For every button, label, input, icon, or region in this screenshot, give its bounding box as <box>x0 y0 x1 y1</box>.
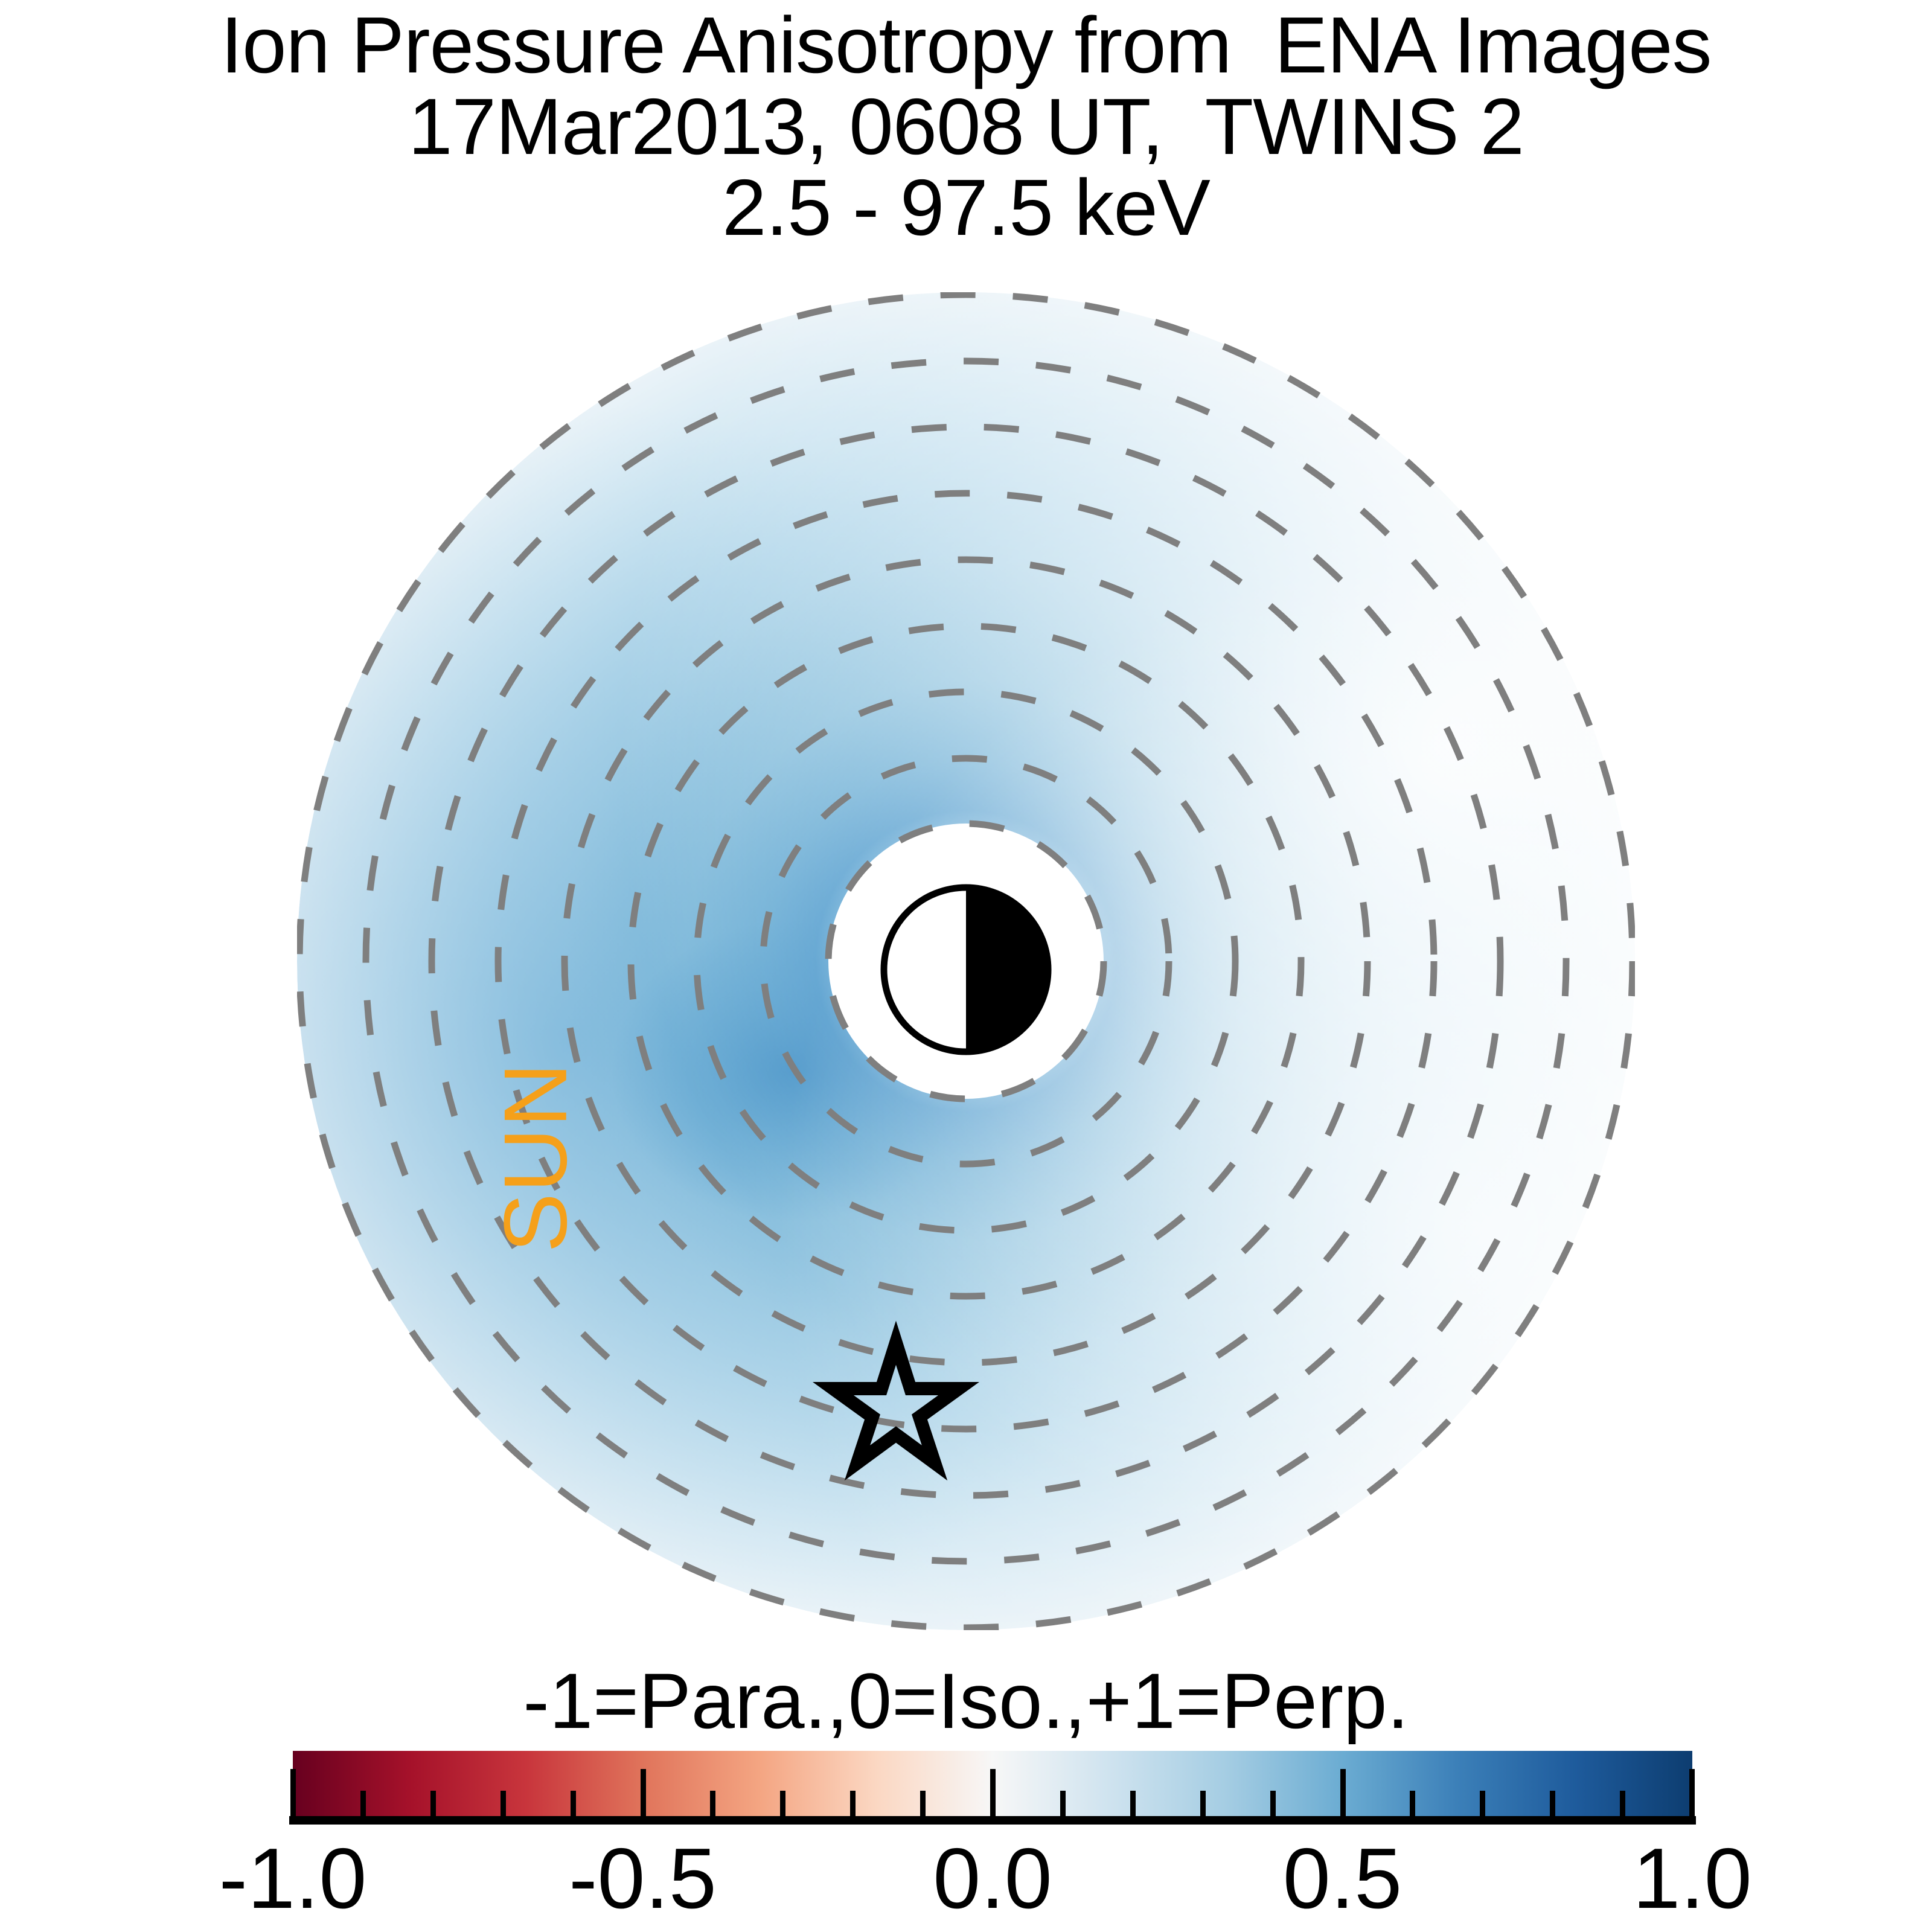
colorbar-major-tick <box>990 1769 996 1816</box>
colorbar-minor-tick <box>1550 1791 1555 1816</box>
colorbar-tick-label: -1.0 <box>219 1829 367 1928</box>
colorbar-tick-label: 0.0 <box>933 1829 1052 1928</box>
colorbar-tick-label: 1.0 <box>1633 1829 1751 1928</box>
colorbar-minor-tick <box>780 1791 785 1816</box>
figure-canvas: Ion Pressure Anisotropy from ENA Images … <box>0 0 1932 1932</box>
colorbar-minor-tick <box>571 1791 576 1816</box>
colorbar-minor-tick <box>1620 1791 1625 1816</box>
sun-direction-label: SUN <box>485 1062 587 1252</box>
colorbar-minor-tick <box>1130 1791 1136 1816</box>
anisotropy-polar-plot: SUN <box>297 292 1635 1630</box>
colorbar-axis-line <box>289 1816 1696 1825</box>
colorbar-major-tick <box>290 1769 296 1816</box>
earth-icon <box>884 888 1048 1052</box>
colorbar-minor-tick <box>1480 1791 1485 1816</box>
colorbar-minor-tick <box>1270 1791 1276 1816</box>
colorbar-major-tick <box>1340 1769 1346 1816</box>
colorbar-major-tick <box>641 1769 646 1816</box>
colorbar-tick-labels: -1.0-0.50.00.51.0 <box>293 1829 1692 1920</box>
title-line-3: 2.5 - 97.5 keV <box>0 167 1932 249</box>
title-line-1: Ion Pressure Anisotropy from ENA Images <box>0 5 1932 86</box>
title-line-2: 17Mar2013, 0608 UT, TWINS 2 <box>0 86 1932 168</box>
anisotropy-map <box>297 292 1635 1630</box>
colorbar-major-tick <box>1689 1769 1695 1816</box>
colorbar-minor-tick <box>430 1791 436 1816</box>
colorbar-minor-tick <box>1200 1791 1206 1816</box>
colorbar-tick-label: -0.5 <box>569 1829 717 1928</box>
colorbar-minor-tick <box>850 1791 856 1816</box>
colorbar-minor-tick <box>1060 1791 1066 1816</box>
colorbar[interactable] <box>293 1751 1692 1816</box>
colorbar-minor-tick <box>360 1791 366 1816</box>
colorbar-tick-label: 0.5 <box>1283 1829 1402 1928</box>
colorbar-minor-tick <box>920 1791 926 1816</box>
colorbar-minor-tick <box>710 1791 715 1816</box>
colorbar-label: -1=Para.,0=Iso.,+1=Perp. <box>0 1655 1932 1746</box>
colorbar-minor-tick <box>1410 1791 1415 1816</box>
colorbar-minor-tick <box>501 1791 506 1816</box>
figure-title: Ion Pressure Anisotropy from ENA Images … <box>0 5 1932 249</box>
